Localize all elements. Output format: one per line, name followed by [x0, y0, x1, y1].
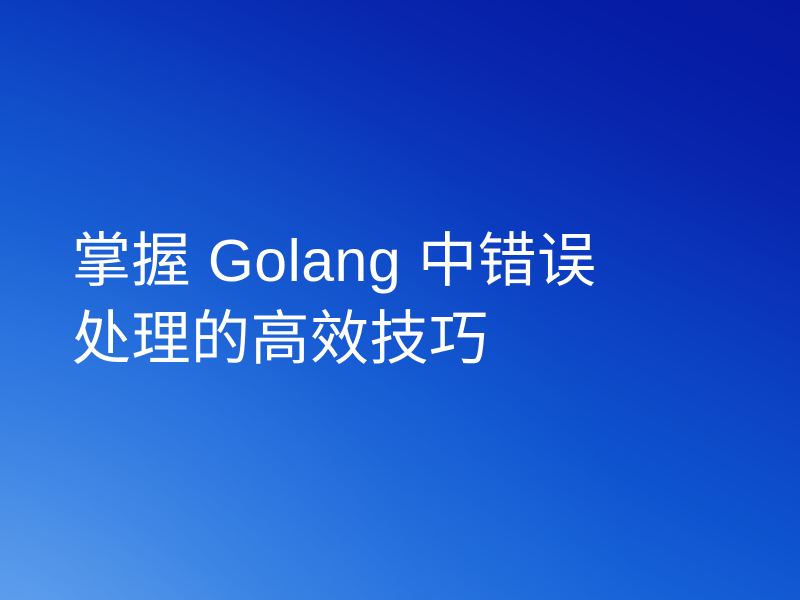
title-line-1: 掌握 Golang 中错误 [72, 222, 597, 300]
title-card: 掌握 Golang 中错误 处理的高效技巧 [0, 0, 800, 600]
title-block: 掌握 Golang 中错误 处理的高效技巧 [72, 0, 732, 600]
title-line-2: 处理的高效技巧 [72, 300, 489, 378]
